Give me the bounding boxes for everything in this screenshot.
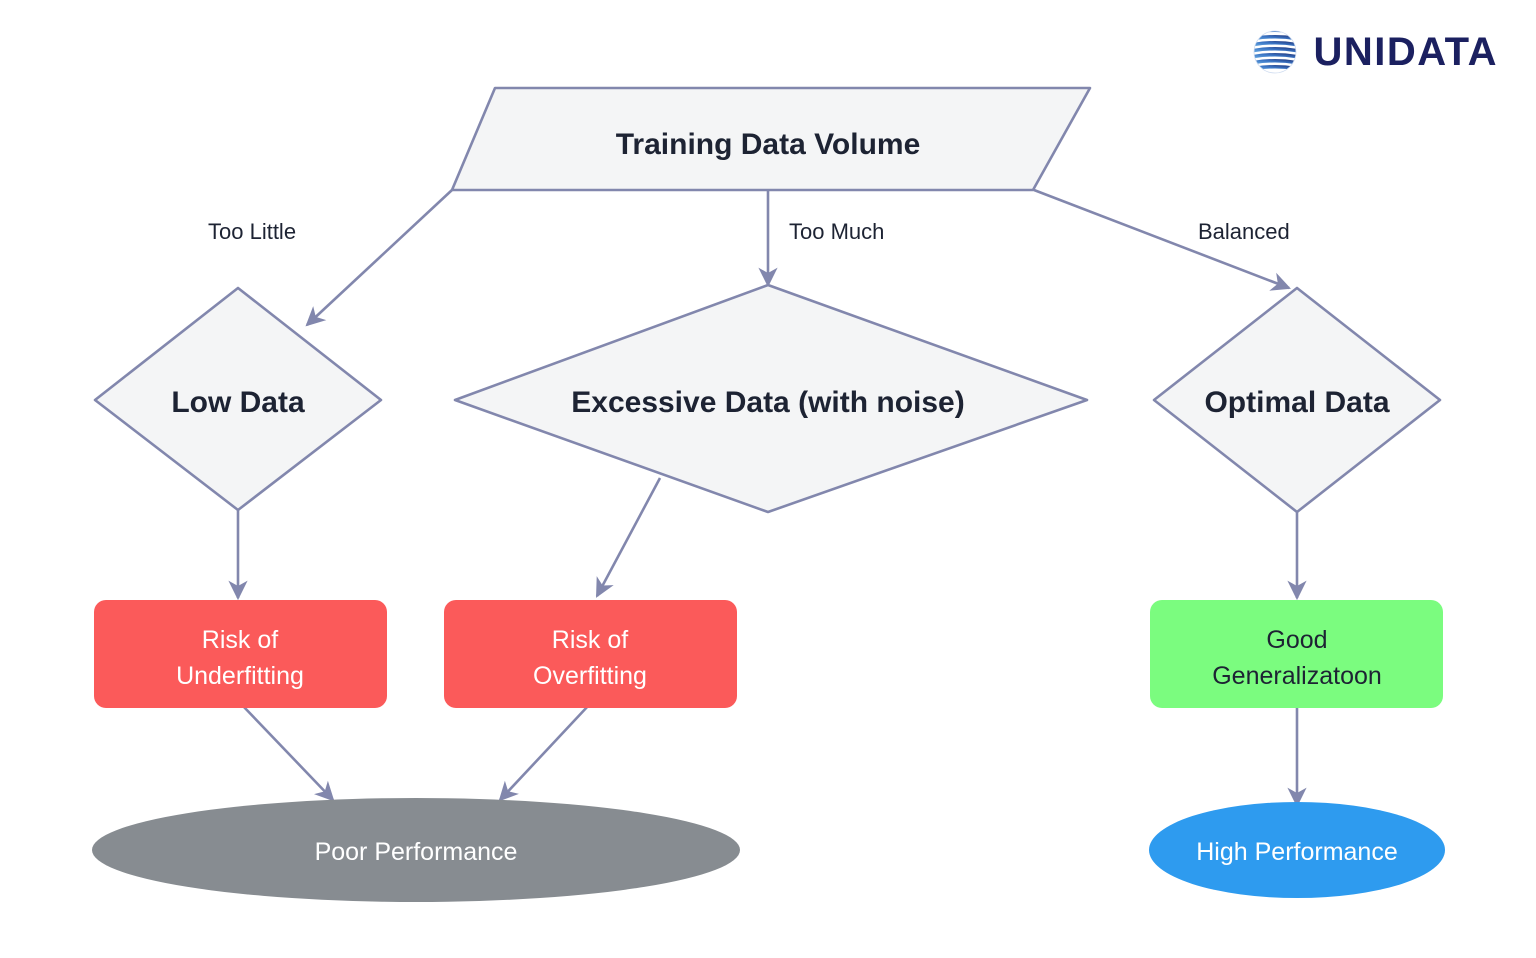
brand-name: UNIDATA: [1313, 30, 1498, 75]
edge-label-balanced: Balanced: [1198, 219, 1290, 244]
edge-underfit-to-poor: [243, 706, 333, 800]
node-optimal-data[interactable]: Optimal Data: [1154, 288, 1440, 512]
flowchart-svg: Too Little Too Much Balanced Training Da…: [0, 0, 1536, 958]
node-excessive-data[interactable]: Excessive Data (with noise): [455, 285, 1087, 512]
node-high-performance[interactable]: High Performance: [1149, 802, 1445, 898]
node-label-overfit-line1: Risk of: [552, 626, 628, 654]
node-good-generalization[interactable]: Good Generalizatoon: [1150, 600, 1443, 708]
rect-shape-overfit: [444, 600, 737, 708]
node-training-data-volume[interactable]: Training Data Volume: [452, 88, 1090, 190]
node-label-excessive-data: Excessive Data (with noise): [571, 386, 965, 419]
rect-shape-underfit: [94, 600, 387, 708]
node-label-generalization-line1: Good: [1266, 626, 1327, 654]
edge-label-too-little: Too Little: [208, 219, 296, 244]
node-label-poor-performance: Poor Performance: [315, 838, 518, 866]
node-label-overfit-line2: Overfitting: [533, 662, 647, 690]
node-label-generalization-line2: Generalizatoon: [1212, 662, 1382, 690]
edge-root-to-low: [307, 190, 452, 325]
node-label-underfit-line2: Underfitting: [176, 662, 304, 690]
node-risk-of-overfitting[interactable]: Risk of Overfitting: [444, 600, 737, 708]
edge-excessive-to-overfit: [597, 478, 660, 596]
node-label-underfit-line1: Risk of: [202, 626, 278, 654]
node-label-root: Training Data Volume: [616, 128, 921, 161]
striped-globe-icon: [1251, 28, 1299, 76]
edge-overfit-to-poor: [500, 706, 588, 800]
diagram-canvas: UNIDATA Too Little Too Much Balanced: [0, 0, 1536, 958]
node-risk-of-underfitting[interactable]: Risk of Underfitting: [94, 600, 387, 708]
node-label-low-data: Low Data: [171, 386, 305, 419]
edge-label-too-much: Too Much: [789, 219, 884, 244]
rect-shape-generalization: [1150, 600, 1443, 708]
node-label-high-performance: High Performance: [1196, 838, 1397, 866]
node-poor-performance[interactable]: Poor Performance: [92, 798, 740, 902]
node-label-optimal-data: Optimal Data: [1204, 386, 1389, 419]
unidata-logo: UNIDATA: [1251, 28, 1498, 76]
node-low-data[interactable]: Low Data: [95, 288, 381, 510]
